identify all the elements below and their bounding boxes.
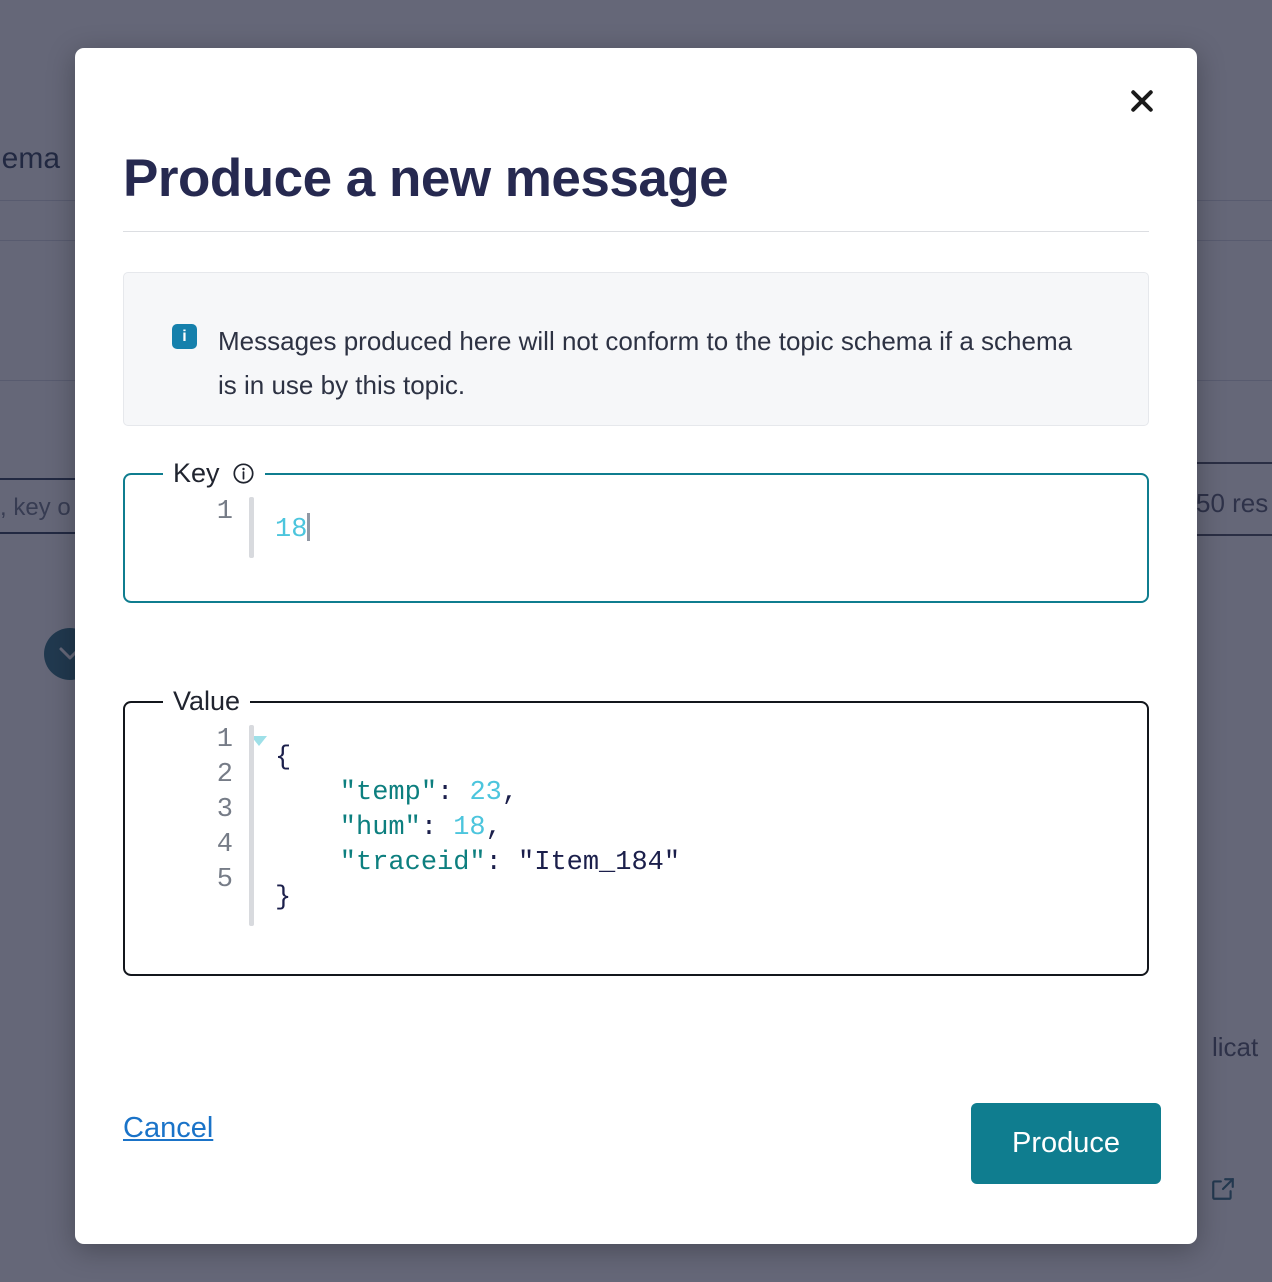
line-number: 3 [137, 793, 245, 828]
value-code-content[interactable]: { "temp": 23, "hum": 18, "traceid": "Ite… [275, 741, 1135, 916]
value-gutter-divider [249, 725, 254, 926]
code-token-str: "Item_184" [518, 848, 680, 878]
code-token-punc: { [275, 743, 291, 773]
close-icon [1127, 86, 1157, 116]
code-token-key: "hum" [275, 813, 421, 843]
value-code-editor[interactable]: 12345 { "temp": 23, "hum": 18, "traceid"… [137, 723, 1135, 916]
code-token-num: 23 [469, 778, 501, 808]
code-line: "hum": 18, [275, 811, 1135, 846]
code-token-punc: , [486, 813, 502, 843]
value-line-numbers: 12345 [137, 723, 245, 898]
value-field-label: Value [173, 686, 240, 717]
code-line: } [275, 881, 1135, 916]
produce-message-dialog: Produce a new message i Messages produce… [75, 48, 1197, 1244]
line-number: 5 [137, 863, 245, 898]
line-number: 1 [137, 495, 245, 530]
title-divider [123, 231, 1149, 232]
code-token-num: 18 [275, 515, 307, 545]
close-button[interactable] [1119, 78, 1165, 124]
text-cursor [307, 513, 310, 541]
line-number: 2 [137, 758, 245, 793]
key-gutter-divider [249, 497, 254, 558]
code-token-punc: } [275, 883, 291, 913]
key-field-label: Key [173, 458, 220, 489]
code-line: "traceid": "Item_184" [275, 846, 1135, 881]
key-field-legend: Key [163, 458, 265, 489]
info-circle-icon[interactable] [232, 462, 255, 485]
info-icon: i [172, 324, 197, 349]
code-token-key: "traceid" [275, 848, 486, 878]
key-code-editor[interactable]: 1 18 [137, 495, 1135, 548]
page-title: Produce a new message [123, 148, 728, 209]
key-field[interactable]: Key 1 18 [123, 458, 1149, 603]
info-banner: i Messages produced here will not confor… [123, 272, 1149, 426]
code-token-num: 18 [453, 813, 485, 843]
key-line-numbers: 1 [137, 495, 245, 530]
line-number: 4 [137, 828, 245, 863]
line-number: 1 [137, 723, 245, 758]
value-field-legend: Value [163, 686, 250, 717]
produce-button[interactable]: Produce [971, 1103, 1161, 1184]
code-line: { [275, 741, 1135, 776]
code-token-punc: : [486, 848, 518, 878]
cancel-button[interactable]: Cancel [123, 1112, 213, 1145]
code-line: "temp": 23, [275, 776, 1135, 811]
code-token-punc: : [437, 778, 469, 808]
key-code-content[interactable]: 18 [275, 513, 1135, 548]
code-token-key: "temp" [275, 778, 437, 808]
value-field[interactable]: Value 12345 { "temp": 23, "hum": 18, "tr… [123, 686, 1149, 976]
info-banner-text: Messages produced here will not conform … [218, 319, 1088, 407]
code-token-punc: : [421, 813, 453, 843]
code-line: 18 [275, 513, 1135, 548]
code-token-punc: , [502, 778, 518, 808]
